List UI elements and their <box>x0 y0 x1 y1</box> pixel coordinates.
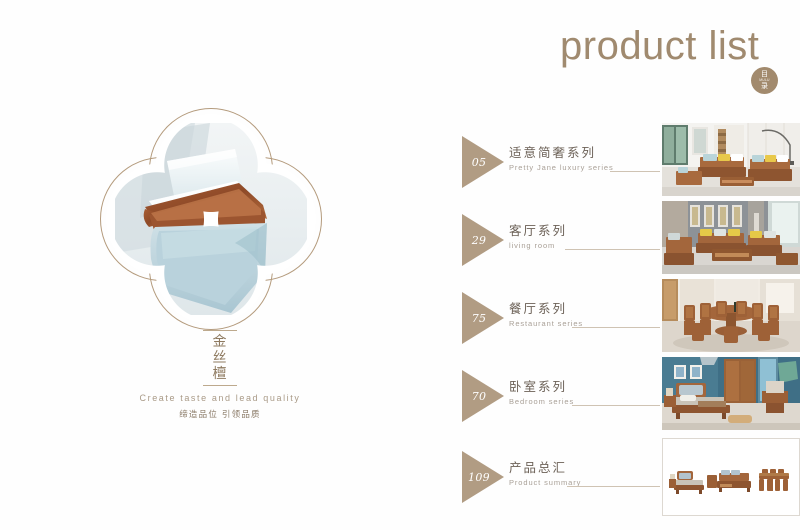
brand-rule-top <box>203 330 237 331</box>
tagline-chinese: 缔造品位 引领品质 <box>0 408 440 420</box>
contents-list: 05 适意简奢系列 Pretty Jane luxury series <box>462 123 800 513</box>
page-title: product list <box>560 20 780 72</box>
table-of-contents-badge: 目 MULU 录 <box>751 67 778 94</box>
contents-row-bedroom[interactable]: 70 卧室系列 Bedroom series <box>462 357 800 435</box>
contents-row-restaurant[interactable]: 75 餐厅系列 Restaurant series <box>462 279 800 357</box>
thumbnail-dining-table-chairs[interactable] <box>662 279 800 352</box>
thumbnail-product-summary[interactable] <box>662 438 800 516</box>
page-title-block: product list 目 MULU 录 <box>560 20 780 90</box>
thumbnail-bedroom-set[interactable] <box>662 357 800 430</box>
thumbnail-living-room-sofa-set[interactable] <box>662 123 800 196</box>
brand-char-2: 丝 <box>0 350 440 366</box>
page-number: 70 <box>462 370 496 422</box>
row-divider <box>565 249 660 250</box>
tagline-english: Create taste and lead quality <box>0 393 440 403</box>
contents-row-living-room[interactable]: 29 客厅系列 living room <box>462 201 800 279</box>
row-marker-triangle: 75 <box>462 292 504 344</box>
row-divider <box>572 405 660 406</box>
row-marker-triangle: 70 <box>462 370 504 422</box>
contents-row-product-summary[interactable]: 109 产品总汇 Product summary <box>462 438 800 516</box>
page-number: 109 <box>462 451 496 503</box>
cover-panel: 金 丝 檀 Create taste and lead quality 缔造品位… <box>0 0 440 530</box>
row-marker-triangle: 05 <box>462 136 504 188</box>
brand-name-vertical: 金 丝 檀 <box>0 330 440 389</box>
row-divider <box>572 327 660 328</box>
brand-char-3: 檀 <box>0 366 440 382</box>
catalog-page: 金 丝 檀 Create taste and lead quality 缔造品位… <box>0 0 800 530</box>
brand-rule-bottom <box>203 385 237 386</box>
badge-char-top: 目 <box>761 71 768 78</box>
hero-furniture-photo <box>115 123 307 315</box>
row-marker-triangle: 109 <box>462 451 504 503</box>
page-number: 05 <box>462 136 496 188</box>
badge-pinyin: MULU <box>759 79 769 82</box>
page-number: 29 <box>462 214 496 266</box>
quatrefoil-hero-image <box>100 108 322 330</box>
brand-char-1: 金 <box>0 334 440 350</box>
row-divider <box>610 171 660 172</box>
page-number: 75 <box>462 292 496 344</box>
thumbnail-living-room-series[interactable] <box>662 201 800 274</box>
badge-char-bottom: 录 <box>761 83 768 90</box>
row-divider <box>567 486 660 487</box>
row-marker-triangle: 29 <box>462 214 504 266</box>
contents-row-pretty-jane[interactable]: 05 适意简奢系列 Pretty Jane luxury series <box>462 123 800 201</box>
